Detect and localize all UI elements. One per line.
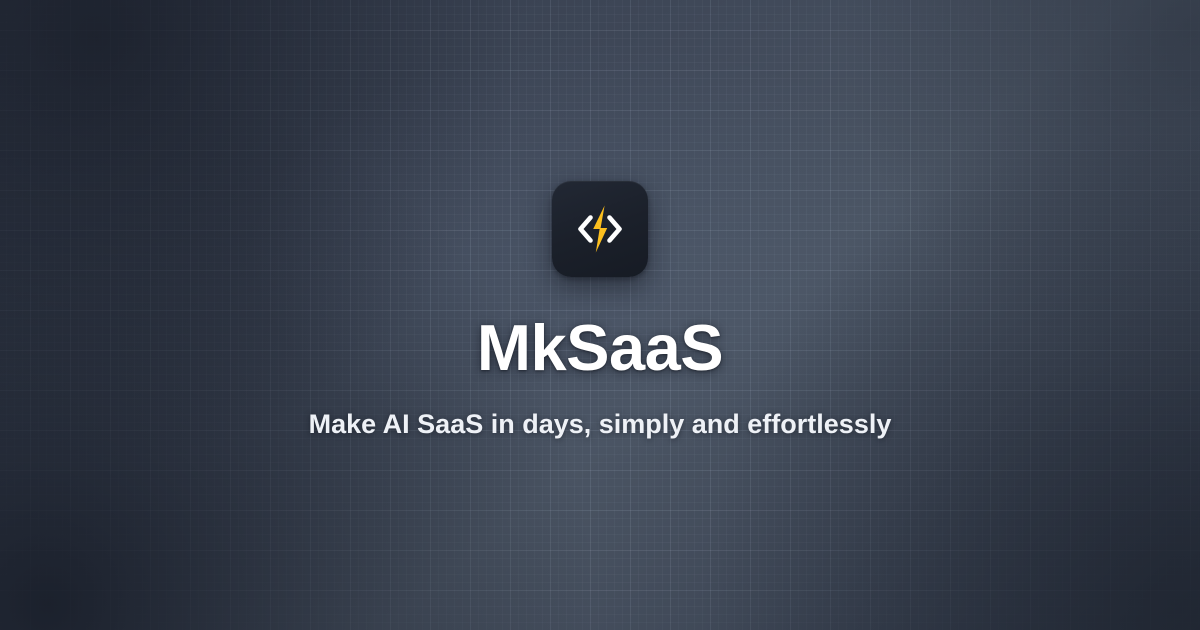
brand-title: MkSaaS xyxy=(477,315,723,380)
code-brackets-lightning-bolt-logo-icon xyxy=(567,196,633,262)
brand-tagline: Make AI SaaS in days, simply and effortl… xyxy=(309,408,892,440)
og-social-card: MkSaaS Make AI SaaS in days, simply and … xyxy=(0,0,1200,630)
brand-logo-tile xyxy=(552,181,648,277)
hero-content: MkSaaS Make AI SaaS in days, simply and … xyxy=(0,0,1200,630)
